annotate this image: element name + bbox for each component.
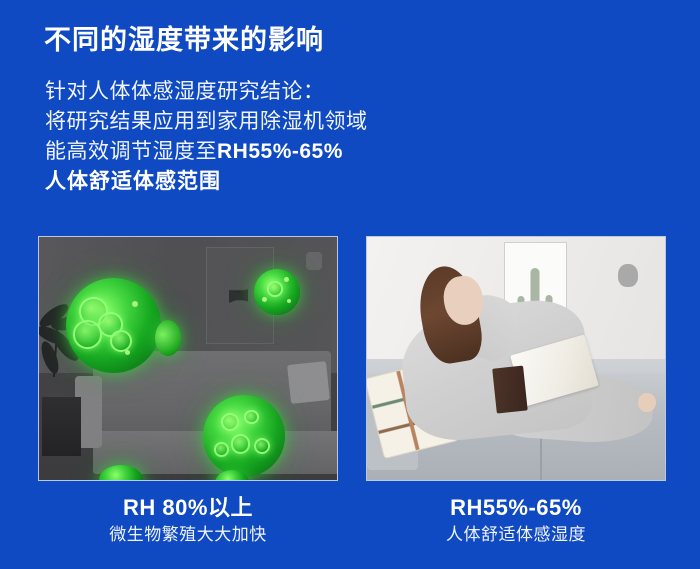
microbe-orb-partial	[155, 320, 181, 356]
microbe-speck	[132, 301, 138, 307]
microbe-orb	[254, 269, 300, 315]
caption-main-label: RH55%-65%	[366, 494, 666, 522]
panel-image-high-humidity	[38, 236, 338, 481]
microbe-speck	[287, 299, 291, 303]
microbe-orb	[203, 395, 285, 477]
intro-line-4: 人体舒适体感范围	[45, 167, 475, 197]
humidity-infographic-page: { "theme": { "background_color": "#0f4ac…	[0, 0, 700, 569]
panel-row	[0, 236, 700, 484]
microbe-nodule	[231, 434, 251, 454]
bright-living-room-illustration	[367, 237, 665, 480]
caption-comfort-humidity: RH55%-65% 人体舒适体感湿度	[366, 494, 666, 548]
caption-main-label: RH 80%以上	[38, 494, 338, 522]
intro-line-3-highlight: RH55%-65%	[217, 140, 343, 163]
microbe-orb	[66, 278, 161, 373]
person-foot	[638, 393, 656, 412]
intro-line-1: 针对人体体感湿度研究结论：	[45, 77, 475, 107]
microbe-nodule	[110, 330, 133, 353]
page-title: 不同的湿度带来的影响	[44, 18, 324, 57]
caption-sub-label: 微生物繁殖大大加快	[38, 522, 338, 548]
intro-line-2: 将研究结果应用到家用除湿机领域	[45, 107, 475, 137]
caption-sub-label: 人体舒适体感湿度	[366, 522, 666, 548]
intro-text-block: 针对人体体感湿度研究结论： 将研究结果应用到家用除湿机领域 能高效调节湿度至RH…	[45, 77, 475, 197]
intro-line-3-prefix: 能高效调节湿度至	[45, 140, 217, 163]
microbe-nodule	[73, 320, 102, 349]
wall-speaker-icon	[618, 264, 638, 287]
intro-line-3: 能高效调节湿度至RH55%-65%	[45, 137, 475, 167]
microbe-speck	[262, 297, 267, 302]
microbe-nodule	[244, 410, 259, 425]
dark-living-room-illustration	[39, 237, 337, 480]
microbe-speck	[125, 350, 130, 355]
panel-image-comfort-humidity	[366, 236, 666, 481]
microbe-nodule	[254, 438, 270, 454]
microbe-nodule	[221, 413, 239, 431]
microbe-nodule	[267, 281, 283, 297]
microbe-nodule	[214, 442, 229, 457]
caption-high-humidity: RH 80%以上 微生物繁殖大大加快	[38, 494, 338, 548]
microbe-speck	[284, 277, 289, 282]
